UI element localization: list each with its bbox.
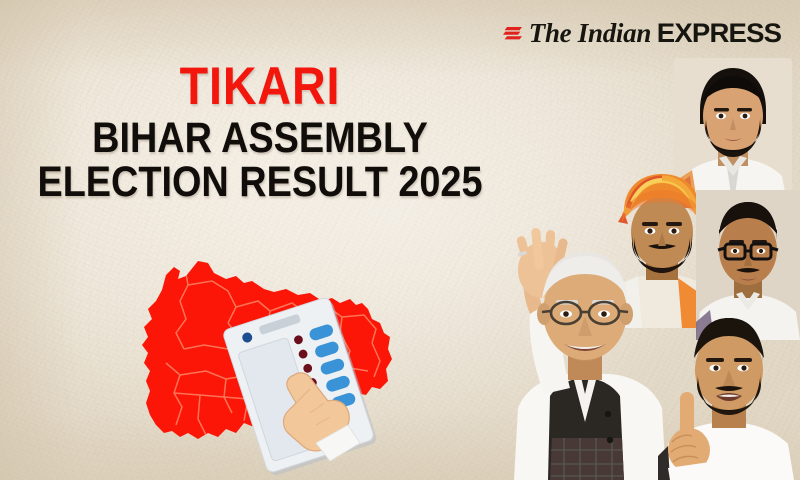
publisher-masthead: The Indian EXPRESS <box>502 20 780 47</box>
headline-block: TIKARI BIHAR ASSEMBLY ELECTION RESULT 20… <box>0 62 520 203</box>
masthead-name-bold: EXPRESS <box>657 20 781 47</box>
headline-line-2: ELECTION RESULT 2025 <box>31 162 489 203</box>
bihar-map-evm-illustration <box>140 245 410 480</box>
masthead-name-serif: The Indian <box>529 20 651 47</box>
leader-photo-nitish-kumar <box>490 208 680 480</box>
election-result-poster: The Indian EXPRESS TIKARI BIHAR ASSEMBLY… <box>0 0 800 480</box>
headline-line-1: BIHAR ASSEMBLY <box>31 118 489 159</box>
constituency-name: TIKARI <box>31 62 489 113</box>
indian-express-slanted-bars-icon <box>502 23 524 45</box>
leader-photo-tejashwi-yadav <box>658 308 798 480</box>
map-evm-graphic <box>140 245 410 480</box>
